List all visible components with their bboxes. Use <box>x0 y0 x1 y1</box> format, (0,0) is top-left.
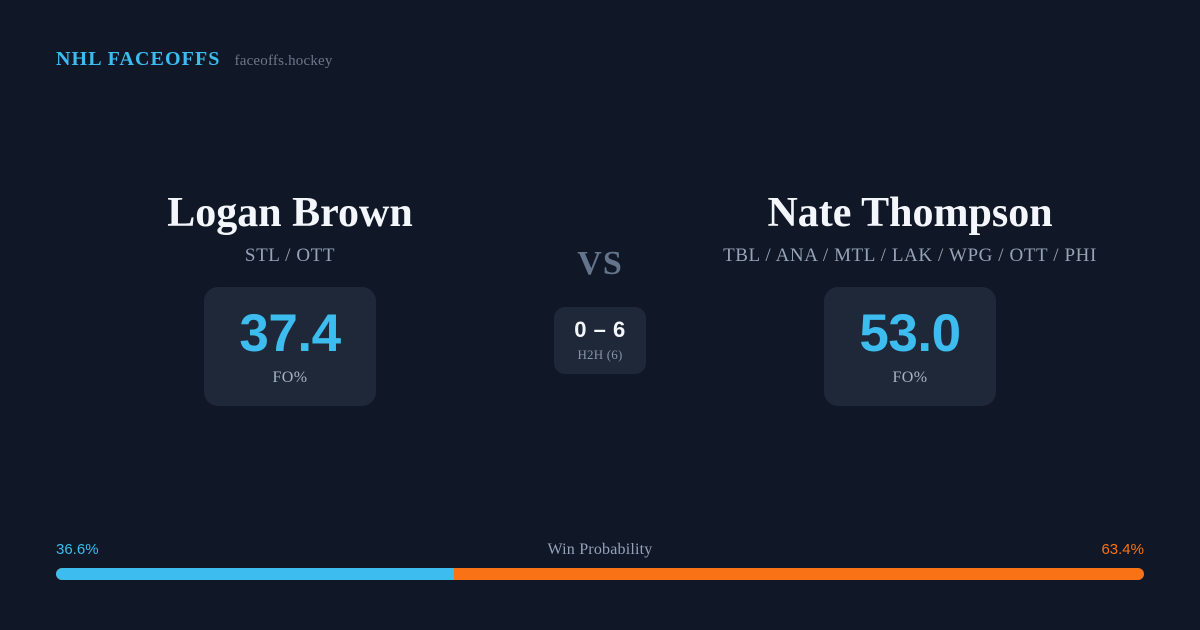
right-player-stat-card: 53.0 FO% <box>824 287 996 406</box>
left-player-teams: STL / OTT <box>245 245 335 267</box>
matchup-comparison: Logan Brown STL / OTT 37.4 FO% VS 0 – 6 … <box>0 190 1200 406</box>
left-player-name[interactable]: Logan Brown <box>167 190 412 237</box>
versus-label: VS <box>577 245 622 283</box>
head-to-head-record: 0 – 6 <box>574 319 625 341</box>
right-win-probability-value: 63.4% <box>1101 541 1144 558</box>
left-player-stat-card: 37.4 FO% <box>204 287 376 406</box>
left-win-probability-value: 36.6% <box>56 541 99 558</box>
head-to-head-card: 0 – 6 H2H (6) <box>554 307 646 374</box>
win-probability-title: Win Probability <box>547 541 652 559</box>
win-probability-left-fill <box>56 568 454 580</box>
site-domain: faceoffs.hockey <box>235 53 333 70</box>
site-header: NHL FACEOFFS faceoffs.hockey <box>56 48 333 71</box>
versus-panel: VS 0 – 6 H2H (6) <box>525 190 675 374</box>
right-player-teams: TBL / ANA / MTL / LAK / WPG / OTT / PHI <box>723 245 1097 267</box>
win-probability-section: 36.6% Win Probability 63.4% <box>56 541 1144 580</box>
right-player-name[interactable]: Nate Thompson <box>767 190 1052 237</box>
left-player-stat-label: FO% <box>273 369 308 387</box>
head-to-head-label: H2H (6) <box>577 347 622 363</box>
right-player-stat-label: FO% <box>893 369 928 387</box>
win-probability-bar <box>56 568 1144 580</box>
right-player-panel: Nate Thompson TBL / ANA / MTL / LAK / WP… <box>675 190 1145 406</box>
left-player-panel: Logan Brown STL / OTT 37.4 FO% <box>55 190 525 406</box>
win-probability-labels: 36.6% Win Probability 63.4% <box>56 541 1144 559</box>
brand-logo[interactable]: NHL FACEOFFS <box>56 48 221 71</box>
left-player-faceoff-percentage: 37.4 <box>239 307 340 360</box>
right-player-faceoff-percentage: 53.0 <box>859 307 960 360</box>
